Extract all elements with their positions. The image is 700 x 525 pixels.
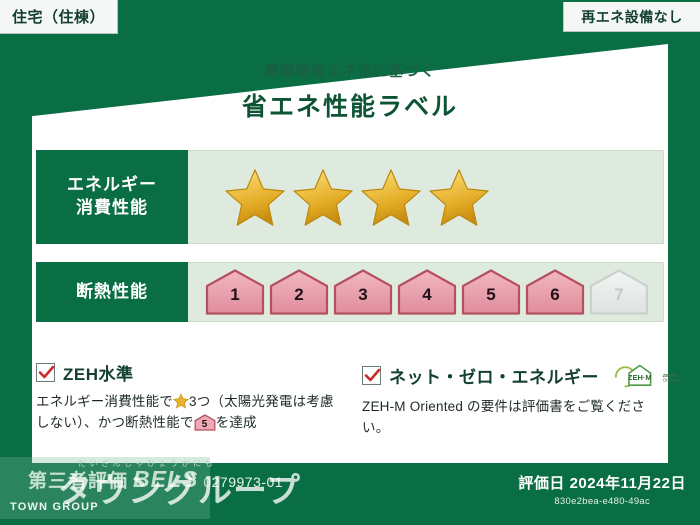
building-type-tag: 住宅（住棟） <box>0 0 118 34</box>
renewable-equipment-tag: 再エネ設備なし <box>563 2 700 32</box>
house-level-7: 7 <box>588 268 650 316</box>
zeh-title: ZEH水準 <box>63 360 134 385</box>
house-level-number: 1 <box>204 285 266 305</box>
zeh-m-checkbox[interactable] <box>362 366 381 385</box>
evaluation-id: 830e2bea-e480-49ac <box>518 496 686 507</box>
energy-label-line2: 消費性能 <box>76 197 148 220</box>
evaluation-date-label: 評価日 <box>518 475 565 492</box>
house-level-inline-number: 5 <box>194 417 216 433</box>
house-level-inline-icon: 5 <box>194 414 216 431</box>
insulation-performance-row: 断熱性能 1234567 <box>36 262 664 322</box>
star-rating <box>188 167 490 227</box>
energy-performance-row: エネルギー 消費性能 <box>36 150 664 244</box>
house-level-scale: 1234567 <box>188 268 650 316</box>
zeh-header: ZEH水準 <box>36 360 336 385</box>
bels-certification: 第三者評価 BELS 0279973-01 <box>28 466 283 493</box>
zeh-desc-part3: を達成 <box>216 415 257 430</box>
zeh-desc-part1: エネルギー消費性能で <box>36 394 173 409</box>
house-level-5: 5 <box>460 268 522 316</box>
house-level-number: 7 <box>588 285 650 305</box>
checkmark-icon <box>364 367 381 384</box>
evaluation-info: 評価日 2024年11月22日 830e2bea-e480-49ac <box>518 472 686 507</box>
zeh-standard-block: ZEH水準 エネルギー消費性能で3つ（太陽光発電は考慮しない）、かつ断熱性能で5… <box>36 360 336 434</box>
energy-performance-label: エネルギー 消費性能 <box>36 150 188 244</box>
label-title-block: 建築物省エネ法に基づく 省エネ性能ラベル <box>0 60 700 123</box>
zeh-m-description: ZEH-M Oriented の要件は評価書をご覧ください。 <box>362 397 667 439</box>
house-level-4: 4 <box>396 268 458 316</box>
evaluation-date: 評価日 2024年11月22日 <box>518 472 686 493</box>
zeh-checkbox[interactable] <box>36 363 55 382</box>
house-level-number: 5 <box>460 285 522 305</box>
zeh-m-block: ネット・ゼロ・エネルギー ZEH·M ZEH-M Oriented ZEH-M … <box>362 360 667 439</box>
house-level-number: 6 <box>524 285 586 305</box>
bels-japanese-label: 第三者評価 <box>28 466 128 493</box>
zeh-description: エネルギー消費性能で3つ（太陽光発電は考慮しない）、かつ断熱性能で5を達成 <box>36 392 336 434</box>
checkmark-icon <box>38 364 55 381</box>
bels-logo-text: BELS <box>133 466 198 493</box>
energy-label-line1: エネルギー <box>67 174 157 197</box>
star-icon <box>292 167 354 227</box>
star-icon <box>224 167 286 227</box>
energy-performance-value <box>188 150 664 244</box>
page-title: 省エネ性能ラベル <box>0 87 700 123</box>
zeh-m-logo-icon: ZEH·M ZEH-M Oriented <box>611 360 683 390</box>
house-level-number: 4 <box>396 285 458 305</box>
svg-text:ZEH·M: ZEH·M <box>628 373 652 382</box>
zeh-m-title: ネット・ゼロ・エネルギー <box>389 363 599 388</box>
title-subtitle: 建築物省エネ法に基づく <box>0 60 700 81</box>
evaluation-date-value: 2024年11月22日 <box>570 475 686 492</box>
star-icon <box>428 167 490 227</box>
bels-number: 0279973-01 <box>203 474 283 490</box>
house-level-number: 3 <box>332 285 394 305</box>
house-level-1: 1 <box>204 268 266 316</box>
star-icon <box>173 393 189 409</box>
svg-text:Oriented: Oriented <box>663 378 681 383</box>
star-icon <box>360 167 422 227</box>
house-level-6: 6 <box>524 268 586 316</box>
house-level-number: 2 <box>268 285 330 305</box>
insulation-performance-value: 1234567 <box>188 262 664 322</box>
house-level-3: 3 <box>332 268 394 316</box>
zeh-m-header: ネット・ゼロ・エネルギー ZEH·M ZEH-M Oriented <box>362 360 667 390</box>
insulation-label-line1: 断熱性能 <box>76 281 148 304</box>
insulation-performance-label: 断熱性能 <box>36 262 188 322</box>
energy-label-root: 住宅（住棟） 再エネ設備なし 建築物省エネ法に基づく 省エネ性能ラベル エネルギ… <box>0 0 700 525</box>
house-level-2: 2 <box>268 268 330 316</box>
